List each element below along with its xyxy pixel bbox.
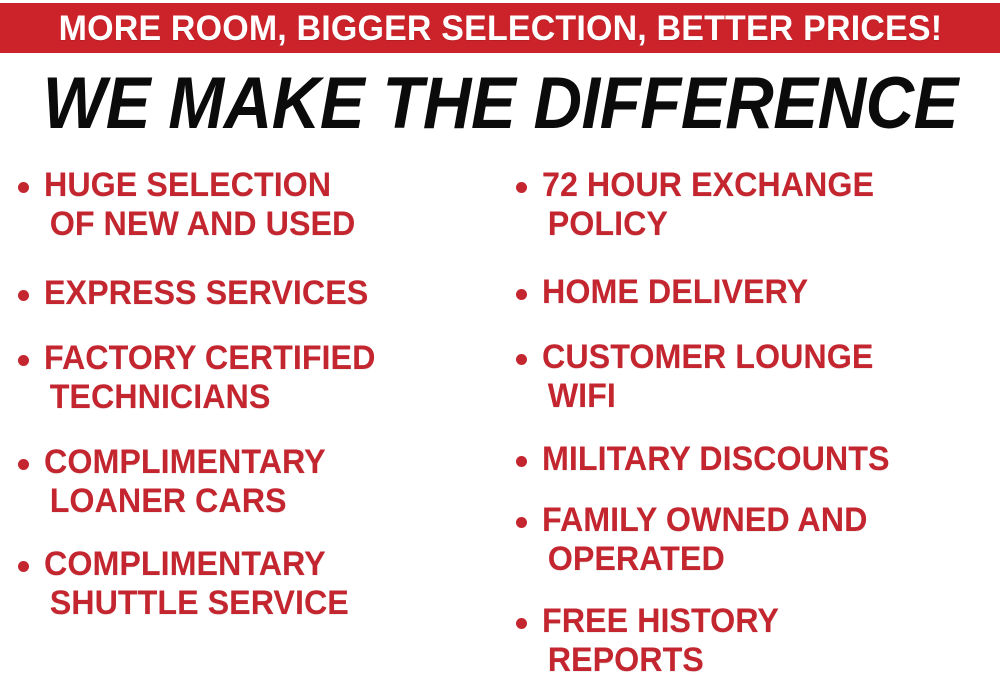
benefit-item-label: HUGE SELECTIONOF NEW AND USED bbox=[44, 166, 355, 244]
bullet-dot-icon bbox=[516, 182, 527, 193]
page-title: WE MAKE THE DIFFERENCE bbox=[42, 66, 957, 142]
benefit-item-line: TECHNICIANS bbox=[44, 378, 375, 417]
benefit-item-line: SHUTTLE SERVICE bbox=[44, 584, 349, 623]
benefit-item-label: COMPLIMENTARYSHUTTLE SERVICE bbox=[44, 545, 349, 623]
benefit-item-left-2: FACTORY CERTIFIEDTECHNICIANS bbox=[18, 339, 498, 417]
bullet-dot-icon bbox=[18, 355, 29, 366]
benefit-item-line: LOANER CARS bbox=[44, 482, 326, 521]
benefit-item-line: FREE HISTORY bbox=[542, 602, 779, 641]
benefits-column-left: HUGE SELECTIONOF NEW AND USEDEXPRESS SER… bbox=[18, 158, 498, 623]
benefit-item-line: FAMILY OWNED AND bbox=[542, 501, 867, 540]
benefit-item-line: POLICY bbox=[542, 205, 874, 244]
bullet-dot-icon bbox=[516, 354, 527, 365]
bullet-dot-icon bbox=[18, 459, 29, 470]
bullet-dot-icon bbox=[516, 289, 527, 300]
benefit-item-label: HOME DELIVERY bbox=[542, 273, 808, 312]
benefit-item-right-0: 72 HOUR EXCHANGEPOLICY bbox=[516, 166, 1000, 244]
bullet-dot-icon bbox=[516, 517, 527, 528]
banner-headline-text: MORE ROOM, BIGGER SELECTION, BETTER PRIC… bbox=[58, 11, 942, 46]
benefit-item-right-3: MILITARY DISCOUNTS bbox=[516, 440, 1000, 479]
promo-poster: MORE ROOM, BIGGER SELECTION, BETTER PRIC… bbox=[0, 0, 1000, 694]
benefit-item-line: OF NEW AND USED bbox=[44, 205, 355, 244]
benefit-item-line: HOME DELIVERY bbox=[542, 273, 808, 312]
headline-block: WE MAKE THE DIFFERENCE bbox=[0, 66, 1000, 142]
benefit-item-line: 72 HOUR EXCHANGE bbox=[542, 166, 874, 205]
benefit-item-left-0: HUGE SELECTIONOF NEW AND USED bbox=[18, 166, 498, 244]
top-banner: MORE ROOM, BIGGER SELECTION, BETTER PRIC… bbox=[0, 3, 1000, 53]
benefit-item-label: EXPRESS SERVICES bbox=[44, 274, 368, 313]
benefits-column-right: 72 HOUR EXCHANGEPOLICYHOME DELIVERYCUSTO… bbox=[516, 158, 1000, 680]
benefit-item-left-3: COMPLIMENTARYLOANER CARS bbox=[18, 443, 498, 521]
bullet-dot-icon bbox=[516, 456, 527, 467]
bullet-dot-icon bbox=[18, 561, 29, 572]
benefit-item-label: 72 HOUR EXCHANGEPOLICY bbox=[542, 166, 874, 244]
benefit-item-label: MILITARY DISCOUNTS bbox=[542, 440, 890, 479]
benefit-item-line: EXPRESS SERVICES bbox=[44, 274, 368, 313]
benefit-item-label: CUSTOMER LOUNGEWIFI bbox=[542, 338, 873, 416]
benefit-item-label: FREE HISTORYREPORTS bbox=[542, 602, 779, 680]
benefit-item-line: REPORTS bbox=[542, 641, 779, 680]
benefit-item-line: HUGE SELECTION bbox=[44, 166, 355, 205]
benefit-item-label: FAMILY OWNED ANDOPERATED bbox=[542, 501, 867, 579]
benefit-item-line: OPERATED bbox=[542, 540, 867, 579]
benefit-item-right-2: CUSTOMER LOUNGEWIFI bbox=[516, 338, 1000, 416]
benefit-item-left-1: EXPRESS SERVICES bbox=[18, 274, 498, 313]
benefit-item-label: COMPLIMENTARYLOANER CARS bbox=[44, 443, 326, 521]
benefit-item-line: COMPLIMENTARY bbox=[44, 545, 349, 584]
benefit-item-line: MILITARY DISCOUNTS bbox=[542, 440, 890, 479]
benefit-item-label: FACTORY CERTIFIEDTECHNICIANS bbox=[44, 339, 375, 417]
benefit-item-line: FACTORY CERTIFIED bbox=[44, 339, 375, 378]
bullet-dot-icon bbox=[18, 290, 29, 301]
benefits-columns: HUGE SELECTIONOF NEW AND USEDEXPRESS SER… bbox=[0, 158, 1000, 694]
benefit-item-left-4: COMPLIMENTARYSHUTTLE SERVICE bbox=[18, 545, 498, 623]
bullet-dot-icon bbox=[516, 618, 527, 629]
benefit-item-right-1: HOME DELIVERY bbox=[516, 273, 1000, 312]
bullet-dot-icon bbox=[18, 182, 29, 193]
benefit-item-line: COMPLIMENTARY bbox=[44, 443, 326, 482]
benefit-item-right-5: FREE HISTORYREPORTS bbox=[516, 602, 1000, 680]
benefit-item-right-4: FAMILY OWNED ANDOPERATED bbox=[516, 501, 1000, 579]
benefit-item-line: WIFI bbox=[542, 377, 873, 416]
benefit-item-line: CUSTOMER LOUNGE bbox=[542, 338, 873, 377]
